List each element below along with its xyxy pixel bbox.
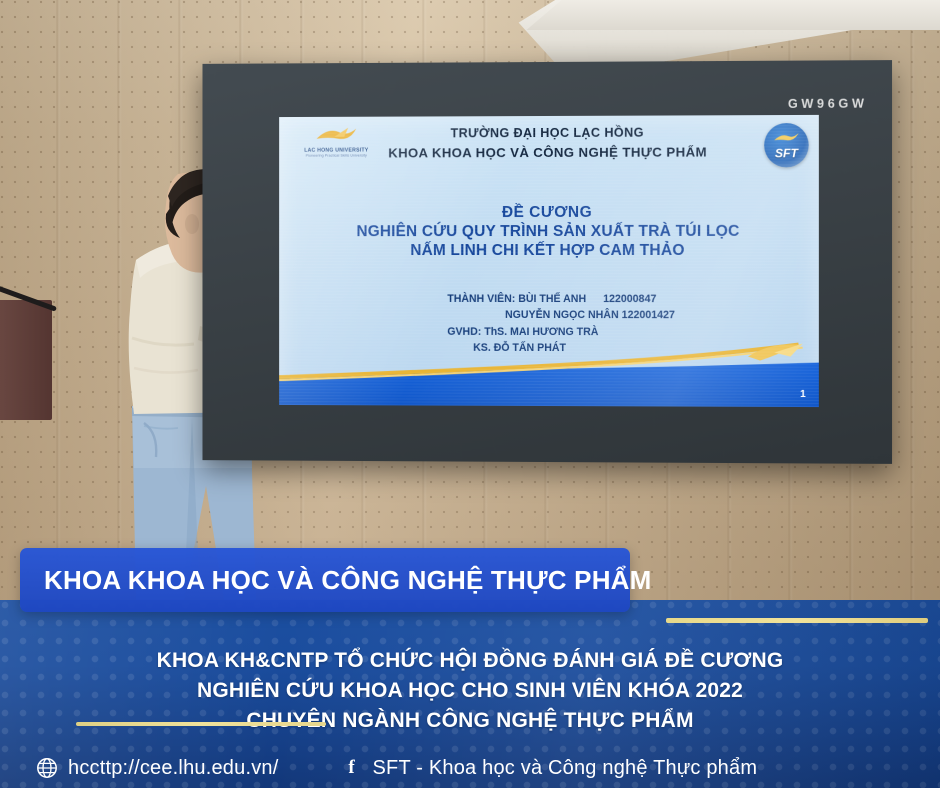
website-url: hccttp://cee.lhu.edu.vn/	[68, 757, 278, 780]
member1-id: 122000847	[603, 291, 656, 307]
member2-name: NGUYỄN NGỌC NHÂN	[505, 309, 619, 321]
facebook-icon: f	[340, 757, 362, 779]
member1-name: BÙI THẾ ANH	[518, 293, 586, 305]
slide-page-number: 1	[800, 389, 806, 400]
member2-id: 122001427	[622, 310, 675, 322]
gold-rule-left	[76, 722, 326, 726]
advisor-row-1: GVHD: ThS. MAI HƯƠNG TRÀ	[447, 324, 819, 341]
photograph-seminar-room: GW96GW LAC HONG UNIVERSITY Pioneering Pr…	[0, 0, 940, 600]
caption-line-2: NGHIÊN CỨU KHOA HỌC CHO SINH VIÊN KHÓA 2…	[0, 676, 940, 706]
slide-title-line3: NẤM LINH CHI KẾT HỢP CAM THẢO	[279, 242, 819, 261]
screen-watermark: GW96GW	[788, 97, 868, 111]
slide-members-block: THÀNH VIÊN: BÙI THẾ ANH 122000847 NGUYỄN…	[279, 291, 819, 358]
website-item[interactable]: hccttp://cee.lhu.edu.vn/	[36, 757, 278, 780]
slide-header-line2: KHOA KHOA HỌC VÀ CÔNG NGHỆ THỰC PHẨM	[279, 144, 819, 161]
contact-footer: hccttp://cee.lhu.edu.vn/ f SFT - Khoa họ…	[0, 748, 940, 788]
advisor1-name: ThS. MAI HƯƠNG TRÀ	[484, 326, 598, 338]
slide-title: ĐỀ CƯƠNG NGHIÊN CỨU QUY TRÌNH SẢN XUẤT T…	[279, 204, 819, 261]
advisor2-name: KS. ĐỖ TẤN PHÁT	[473, 342, 566, 354]
faculty-title-text: KHOA KHOA HỌC VÀ CÔNG NGHỆ THỰC PHẨM	[20, 565, 652, 596]
ceiling-beam-face	[500, 0, 940, 30]
faculty-title-chip: KHOA KHOA HỌC VÀ CÔNG NGHỆ THỰC PHẨM	[20, 548, 630, 612]
advisor-label: GVHD:	[447, 326, 481, 338]
member-row-2: NGUYỄN NGỌC NHÂN 122001427	[447, 307, 819, 324]
wall-display-screen[interactable]: GW96GW LAC HONG UNIVERSITY Pioneering Pr…	[202, 60, 892, 464]
members-label: THÀNH VIÊN:	[447, 293, 515, 305]
advisor-row-2: KS. ĐỖ TẤN PHÁT	[447, 340, 819, 357]
gold-rule-right	[666, 618, 928, 623]
poster-image: GW96GW LAC HONG UNIVERSITY Pioneering Pr…	[0, 0, 940, 788]
globe-icon	[36, 757, 58, 779]
facebook-item[interactable]: f SFT - Khoa học và Công nghệ Thực phẩm	[340, 757, 757, 780]
member-row-1: THÀNH VIÊN: BÙI THẾ ANH 122000847	[447, 291, 819, 308]
slide-title-line2: NGHIÊN CỨU QUY TRÌNH SẢN XUẤT TRÀ TÚI LỌ…	[279, 223, 819, 242]
caption-line-1: KHOA KH&CNTP TỔ CHỨC HỘI ĐỒNG ĐÁNH GIÁ Đ…	[0, 646, 940, 676]
slide-header: TRƯỜNG ĐẠI HỌC LẠC HỒNG KHOA KHOA HỌC VÀ…	[279, 125, 819, 161]
lectern	[0, 300, 52, 420]
facebook-page-name: SFT - Khoa học và Công nghệ Thực phẩm	[372, 757, 757, 780]
slide-footer-band	[279, 359, 819, 407]
slide-title-line1: ĐỀ CƯƠNG	[279, 204, 819, 224]
caption-line-3: CHUYÊN NGÀNH CÔNG NGHỆ THỰC PHẨM	[0, 706, 940, 736]
presentation-slide: LAC HONG UNIVERSITY Pioneering Practical…	[279, 115, 819, 407]
slide-header-line1: TRƯỜNG ĐẠI HỌC LẠC HỒNG	[279, 125, 819, 141]
